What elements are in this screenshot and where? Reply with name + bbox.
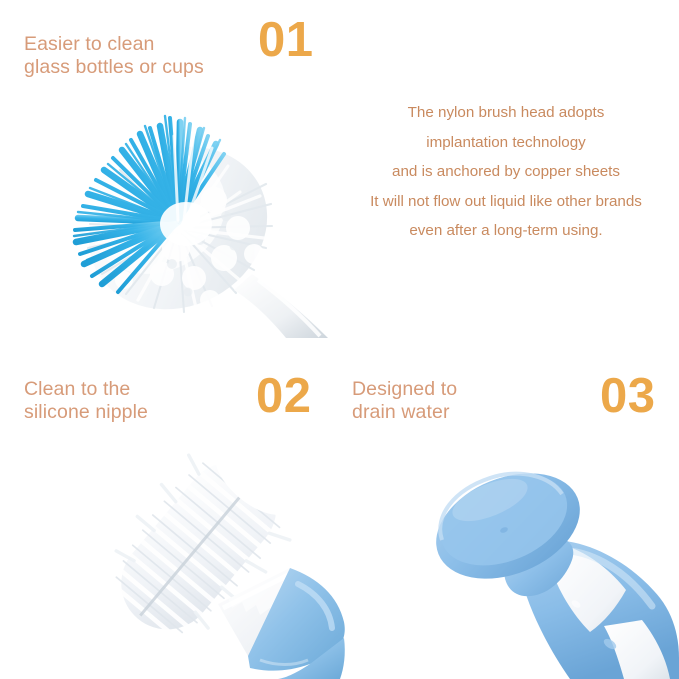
suction-base-photo — [420, 448, 679, 679]
feature-heading-02: Clean to the silicone nipple — [24, 378, 148, 424]
step-number-03: 03 — [600, 372, 656, 421]
feature-description: The nylon brush head adopts implantation… — [339, 98, 673, 246]
bottle-brush-head-photo — [28, 88, 358, 338]
feature-heading-01: Easier to clean glass bottles or cups — [24, 33, 204, 79]
feature-heading-03: Designed to drain water — [352, 378, 457, 424]
step-number-01: 01 — [258, 16, 314, 65]
brush-handle-stem — [234, 274, 328, 338]
nipple-brush-photo — [92, 432, 362, 679]
step-number-02: 02 — [256, 372, 312, 421]
